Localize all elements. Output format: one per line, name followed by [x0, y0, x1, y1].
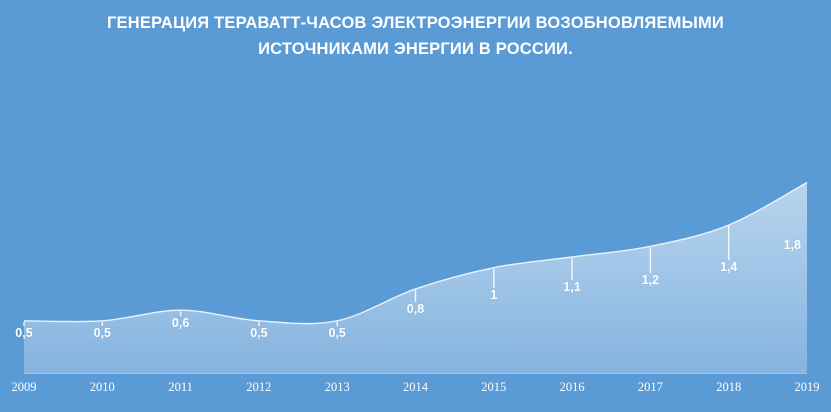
- value-label: 0,5: [250, 326, 267, 340]
- value-label: 1,4: [720, 260, 737, 274]
- chart-title: ГЕНЕРАЦИЯ ТЕРАВАТТ-ЧАСОВ ЭЛЕКТРОЭНЕРГИИ …: [0, 10, 831, 62]
- value-label: 1,2: [642, 273, 659, 287]
- value-label: 0,5: [328, 326, 345, 340]
- x-tick-label: 2013: [325, 380, 350, 395]
- value-label: 0,5: [94, 326, 111, 340]
- x-tick-label: 2011: [168, 380, 193, 395]
- x-tick-label: 2009: [12, 380, 37, 395]
- value-label: 0,5: [15, 326, 32, 340]
- value-label: 0,8: [407, 302, 424, 316]
- x-tick-label: 2016: [560, 380, 585, 395]
- value-label: 0,6: [172, 316, 189, 330]
- value-label: 1,1: [563, 280, 580, 294]
- x-tick-label: 2014: [403, 380, 428, 395]
- x-tick-label: 2018: [716, 380, 741, 395]
- area-series-fill: [24, 183, 807, 374]
- x-tick-label: 2015: [481, 380, 506, 395]
- x-tick-label: 2012: [246, 380, 271, 395]
- x-tick-label: 2010: [90, 380, 115, 395]
- value-label: 1,8: [784, 238, 801, 252]
- value-label: 1: [490, 288, 497, 302]
- x-tick-label: 2017: [638, 380, 663, 395]
- x-tick-label: 2019: [795, 380, 820, 395]
- x-axis-tick-labels: 2009201020112012201320142015201620172018…: [0, 380, 831, 412]
